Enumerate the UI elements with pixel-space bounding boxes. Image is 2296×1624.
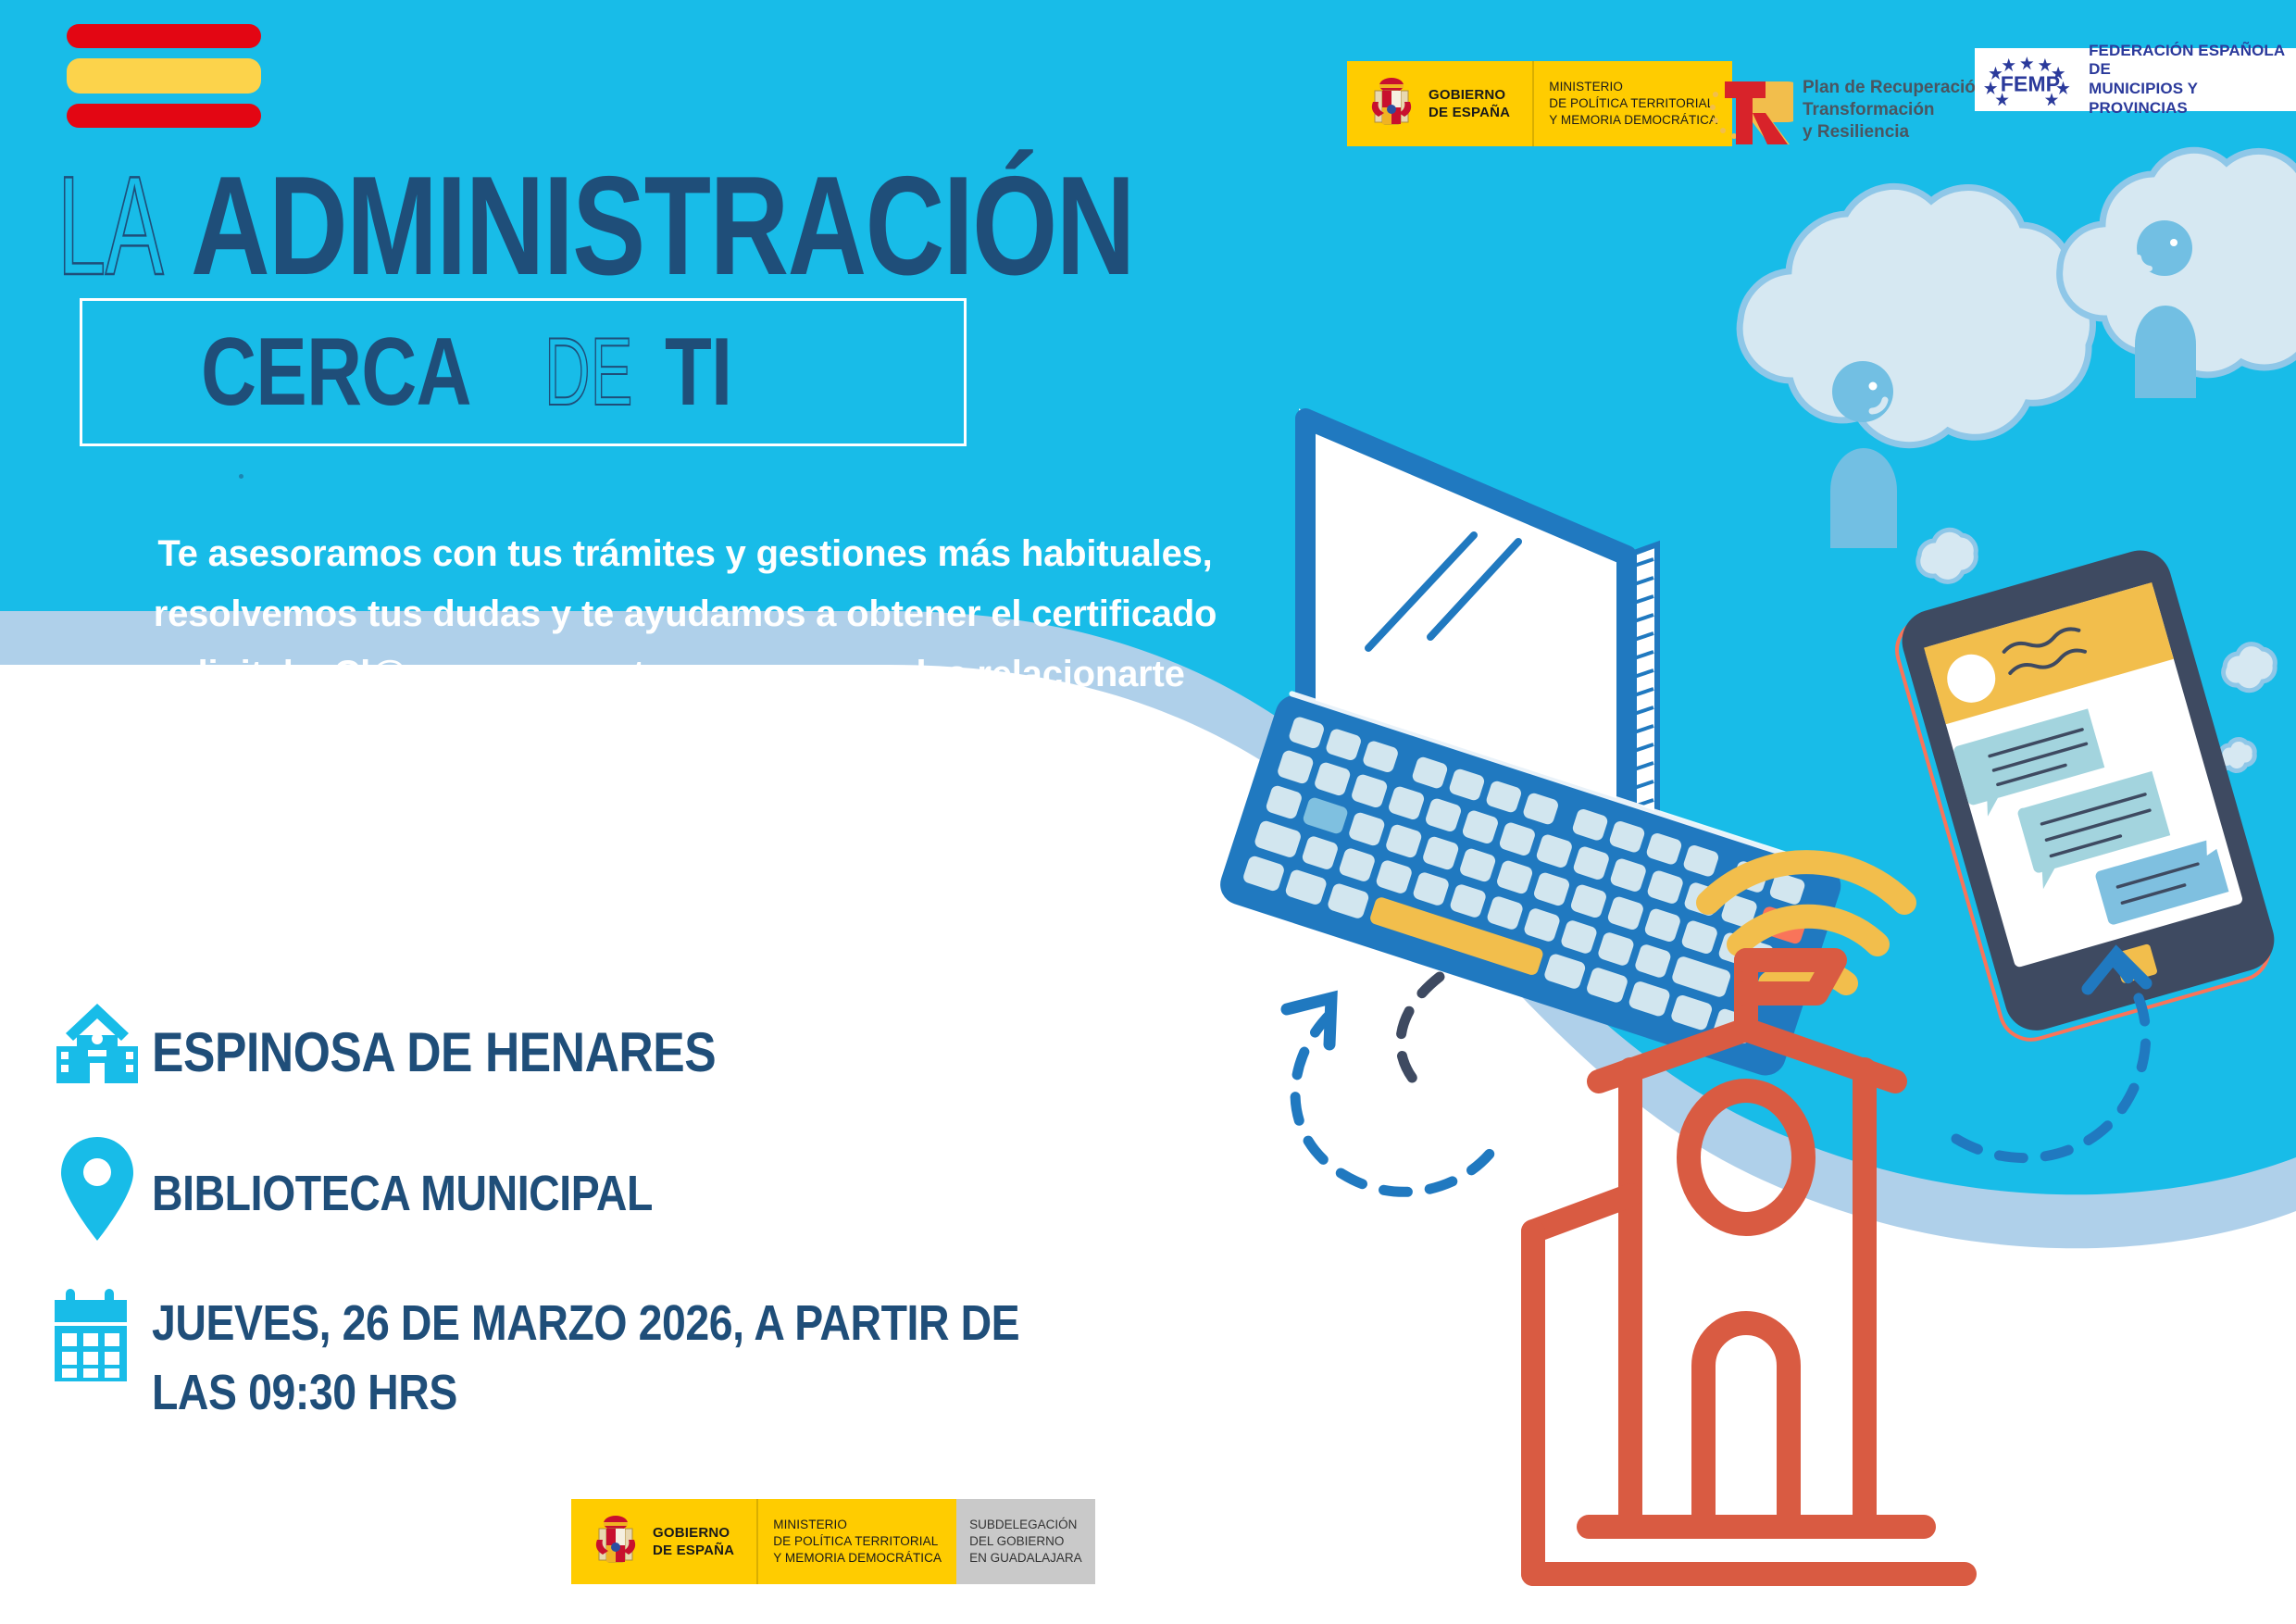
gobierno-text: GOBIERNO DE ESPAÑA bbox=[1429, 61, 1532, 146]
headline-light-word: LA bbox=[57, 156, 163, 296]
poster-root: LA ADMINISTRACIÓN CERCA DE TI Te asesora… bbox=[0, 0, 2296, 1624]
plan-line2: Transformación bbox=[1803, 99, 1991, 121]
plan-text: Plan de Recuperación, Transformación y R… bbox=[1803, 77, 1991, 144]
gobierno-line2: DE ESPAÑA bbox=[1429, 104, 1510, 121]
subdelegacion-text: SUBDELEGACIÓN DEL GOBIERNO EN GUADALAJAR… bbox=[956, 1499, 1095, 1584]
detail-venue-label: BIBLIOTECA MUNICIPAL bbox=[152, 1135, 653, 1229]
plan-line1: Plan de Recuperación, bbox=[1803, 77, 1991, 99]
subtitle-word-ti: TI bbox=[665, 324, 731, 420]
event-details: ESPINOSA DE HENARES BIBLIOTECA MUNICIPAL bbox=[43, 998, 1292, 1468]
ministerio-bottom-line3: Y MEMORIA DEMOCRÁTICA bbox=[773, 1550, 942, 1567]
plan-tr-monogram-icon bbox=[1708, 72, 1793, 148]
detail-row-date: JUEVES, 26 DE MARZO 2026, A PARTIR DE LA… bbox=[43, 1283, 1292, 1427]
page-title: LA ADMINISTRACIÓN bbox=[57, 156, 1400, 296]
detail-town-label: ESPINOSA DE HENARES bbox=[152, 998, 716, 1092]
headline-bold-word: ADMINISTRACIÓN bbox=[191, 156, 1134, 296]
subdelegacion-line3: EN GUADALAJARA bbox=[969, 1550, 1082, 1567]
coat-of-arms-icon bbox=[1347, 61, 1429, 146]
flag-bar-red-bottom bbox=[67, 104, 261, 128]
detail-row-venue: BIBLIOTECA MUNICIPAL bbox=[43, 1135, 1292, 1243]
ministerio-line2: DE POLÍTICA TERRITORIAL bbox=[1549, 95, 1717, 112]
flag-bar-red-top bbox=[67, 24, 261, 48]
gobierno-bottom-line1: GOBIERNO bbox=[653, 1524, 734, 1542]
town-hall-icon bbox=[43, 998, 152, 1094]
femp-line1: FEDERACIÓN ESPAÑOLA DE bbox=[2089, 42, 2287, 80]
subdelegacion-line1: SUBDELEGACIÓN bbox=[969, 1517, 1082, 1533]
gobierno-subdelegacion-logo-bottom: GOBIERNO DE ESPAÑA MINISTERIO DE POLÍTIC… bbox=[571, 1499, 1095, 1584]
calendar-icon bbox=[43, 1283, 152, 1387]
plan-line3: y Resiliencia bbox=[1803, 121, 1991, 144]
ministerio-line1: MINISTERIO bbox=[1549, 79, 1717, 95]
plan-recuperacion-logo: Plan de Recuperación, Transformación y R… bbox=[1708, 72, 1991, 148]
gobierno-ministerio-logo-top: GOBIERNO DE ESPAÑA MINISTERIO DE POLÍTIC… bbox=[1347, 61, 1732, 146]
svg-text:FEMP: FEMP bbox=[2001, 71, 2060, 95]
femp-stars-icon: FEMP bbox=[1984, 54, 2081, 106]
femp-line2: MUNICIPIOS Y PROVINCIAS bbox=[2089, 80, 2287, 118]
gobierno-bottom-line2: DE ESPAÑA bbox=[653, 1542, 734, 1559]
detail-row-town: ESPINOSA DE HENARES bbox=[43, 998, 1292, 1094]
ministerio-text-bottom: MINISTERIO DE POLÍTICA TERRITORIAL Y MEM… bbox=[758, 1499, 956, 1584]
gobierno-text-bottom: GOBIERNO DE ESPAÑA bbox=[653, 1499, 756, 1584]
flag-bar-yellow bbox=[67, 58, 261, 94]
ministerio-line3: Y MEMORIA DEMOCRÁTICA bbox=[1549, 112, 1717, 129]
map-pin-icon bbox=[43, 1135, 152, 1243]
ministerio-text: MINISTERIO DE POLÍTICA TERRITORIAL Y MEM… bbox=[1534, 61, 1732, 146]
subdelegacion-line2: DEL GOBIERNO bbox=[969, 1533, 1082, 1550]
subtitle-word-de: DE bbox=[544, 324, 632, 420]
decorative-dot bbox=[239, 474, 243, 479]
gobierno-line1: GOBIERNO bbox=[1429, 86, 1510, 104]
subtitle-word-cerca: CERCA bbox=[201, 324, 471, 420]
femp-logo: FEMP FEDERACIÓN ESPAÑOLA DE MUNICIPIOS Y… bbox=[1975, 48, 2296, 111]
detail-date-label: JUEVES, 26 DE MARZO 2026, A PARTIR DE LA… bbox=[152, 1283, 1028, 1427]
ministerio-bottom-line2: DE POLÍTICA TERRITORIAL bbox=[773, 1533, 942, 1550]
spanish-flag-bars bbox=[67, 24, 261, 138]
femp-text: FEDERACIÓN ESPAÑOLA DE MUNICIPIOS Y PROV… bbox=[2089, 42, 2287, 119]
ministerio-bottom-line1: MINISTERIO bbox=[773, 1517, 942, 1533]
body-paragraph: Te asesoramos con tus trámites y gestion… bbox=[139, 524, 1231, 764]
coat-of-arms-icon-bottom bbox=[571, 1499, 653, 1584]
subtitle-box: CERCA DE TI bbox=[80, 298, 967, 446]
